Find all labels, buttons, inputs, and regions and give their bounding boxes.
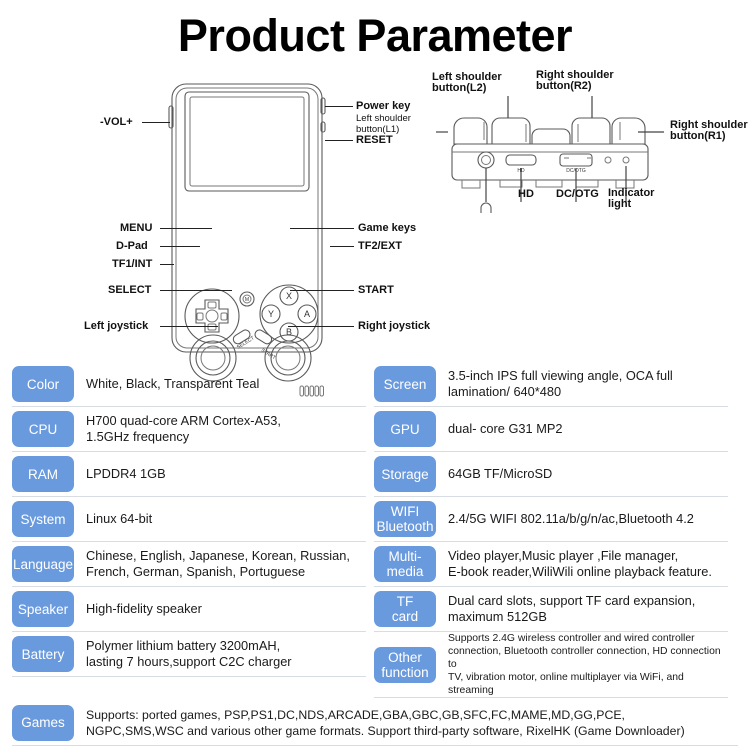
spec-value: H700 quad-core ARM Cortex-A53, 1.5GHz fr… [74,413,366,445]
spec-label-chip: Color [12,366,74,402]
spec-value: 2.4/5G WIFI 802.11a/b/g/n/ac,Bluetooth 4… [436,511,728,527]
spec-label-chip: System [12,501,74,537]
spec-value: Video player,Music player ,File manager,… [436,548,728,580]
label-indicator-light: Indicator light [608,188,654,210]
label-vol: -VOL+ [100,116,133,128]
spec-value: 64GB TF/MicroSD [436,466,728,482]
leader-select [160,290,232,291]
svg-text:X: X [286,291,292,301]
label-menu: MENU [120,222,152,234]
leader-tf1 [160,264,174,265]
spec-value: 3.5-inch IPS full viewing angle, OCA ful… [436,368,728,400]
spec-row: CPU H700 quad-core ARM Cortex-A53, 1.5GH… [12,407,366,452]
svg-text:START: START [260,348,277,362]
spec-label-chip: TF card [374,591,436,627]
spec-row: System Linux 64-bit [12,497,366,542]
spec-row-games-wrapper: Games Supports: ported games, PSP,PS1,DC… [0,700,750,746]
leader-menu [160,228,212,229]
label-power-key: Power key [356,100,410,112]
spec-label-chip: Screen [374,366,436,402]
spec-row: GPU dual- core G31 MP2 [374,407,728,452]
spec-label-chip: CPU [12,411,74,447]
leader-right-joystick [288,326,354,327]
spec-column-left: Color White, Black, Transparent Teal CPU… [12,362,366,698]
label-port-hd: HD [518,188,534,200]
svg-text:M: M [245,297,249,303]
spec-column-right: Screen 3.5-inch IPS full viewing angle, … [374,362,728,698]
spec-value: dual- core G31 MP2 [436,421,728,437]
spec-value: High-fidelity speaker [74,601,366,617]
label-tf2-ext: TF2/EXT [358,240,402,252]
label-right-joystick: Right joystick [358,320,430,332]
spec-label-chip: Language [12,546,74,582]
label-game-keys: Game keys [358,222,416,234]
leader-dpad [160,246,200,247]
spec-label-chip: Games [12,705,74,741]
label-left-joystick: Left joystick [84,320,148,332]
svg-text:A: A [304,309,310,319]
leader-reset [325,140,353,141]
spec-label-chip: GPU [374,411,436,447]
label-start: START [358,284,394,296]
spec-value: Chinese, English, Japanese, Korean, Russ… [74,548,366,580]
spec-label-chip: WIFI Bluetooth [374,501,436,537]
label-port-dc-otg: DC/OTG [556,188,599,200]
spec-row: Speaker High-fidelity speaker [12,587,366,632]
label-tf1-int: TF1/INT [112,258,152,270]
spec-label-chip: Battery [12,636,74,672]
label-left-shoulder-l2: Left shoulder button(L2) [432,72,502,94]
label-right-shoulder-r1: Right shoulder button(R1) [670,120,748,142]
spec-value: Linux 64-bit [74,511,366,527]
spec-row: Color White, Black, Transparent Teal [12,362,366,407]
spec-value: Supports 2.4G wireless controller and wi… [436,632,728,697]
leader-power [325,106,353,107]
spec-row: Language Chinese, English, Japanese, Kor… [12,542,366,587]
spec-label-chip: Speaker [12,591,74,627]
label-select: SELECT [108,284,151,296]
page-title: Product Parameter [0,10,750,62]
leader-vol [142,122,170,123]
product-parameter-sheet: Product Parameter M [0,0,750,750]
spec-label-chip: Other function [374,647,436,683]
spec-row: Other function Supports 2.4G wireless co… [374,632,728,698]
spec-row: Screen 3.5-inch IPS full viewing angle, … [374,362,728,407]
spec-value: White, Black, Transparent Teal [74,376,366,392]
spec-value: Supports: ported games, PSP,PS1,DC,NDS,A… [74,707,738,739]
spec-table: Color White, Black, Transparent Teal CPU… [0,362,750,746]
label-dpad: D-Pad [116,240,148,252]
spec-row: TF card Dual card slots, support TF card… [374,587,728,632]
spec-row: Storage 64GB TF/MicroSD [374,452,728,497]
spec-label-chip: Storage [374,456,436,492]
label-reset: RESET [356,134,393,146]
spec-row: Battery Polymer lithium battery 3200mAH,… [12,632,366,677]
spec-row: Games Supports: ported games, PSP,PS1,DC… [12,700,738,746]
leader-left-joystick [160,326,218,327]
spec-row: RAM LPDDR4 1GB [12,452,366,497]
label-right-shoulder-r2: Right shoulder button(R2) [536,70,614,92]
leader-tf2 [330,246,354,247]
diagram-area: M X Y A B SELECT START [0,68,750,353]
spec-label-chip: Multi- media [374,546,436,582]
spec-value: Polymer lithium battery 3200mAH, lasting… [74,638,366,670]
spec-value: Dual card slots, support TF card expansi… [436,593,728,625]
leader-game-keys [290,228,354,229]
label-left-shoulder-l1: Left shoulder button(L1) [356,114,411,135]
spec-row: Multi- media Video player,Music player ,… [374,542,728,587]
spec-value: LPDDR4 1GB [74,466,366,482]
leader-start [290,290,354,291]
spec-label-chip: RAM [12,456,74,492]
spec-row: WIFI Bluetooth 2.4/5G WIFI 802.11a/b/g/n… [374,497,728,542]
svg-text:Y: Y [268,309,274,319]
